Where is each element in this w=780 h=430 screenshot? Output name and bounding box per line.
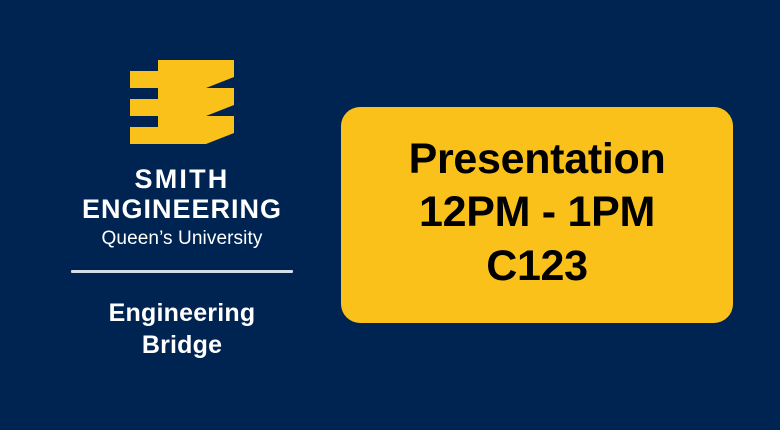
- event-time: 12PM - 1PM: [359, 188, 715, 237]
- wordmark-queens-university: Queen’s University: [47, 229, 317, 248]
- venue-name: Engineering Bridge: [47, 297, 317, 361]
- venue-name-line-1: Engineering: [47, 297, 317, 329]
- wordmark-engineering: ENGINEERING: [47, 196, 317, 223]
- smith-engineering-lightning-logo-icon: [130, 60, 234, 144]
- smith-engineering-wordmark: SMITH ENGINEERING Queen’s University: [47, 166, 317, 248]
- event-info-card: Presentation 12PM - 1PM C123: [341, 107, 733, 323]
- brand-divider: [71, 270, 293, 273]
- event-title: Presentation: [359, 135, 715, 184]
- wordmark-smith: SMITH: [47, 166, 317, 193]
- brand-panel: SMITH ENGINEERING Queen’s University Eng…: [47, 60, 317, 370]
- logo-mark-svg: [130, 60, 234, 144]
- event-room: C123: [359, 242, 715, 291]
- venue-name-line-2: Bridge: [47, 329, 317, 361]
- digital-signage-board: SMITH ENGINEERING Queen’s University Eng…: [0, 0, 780, 430]
